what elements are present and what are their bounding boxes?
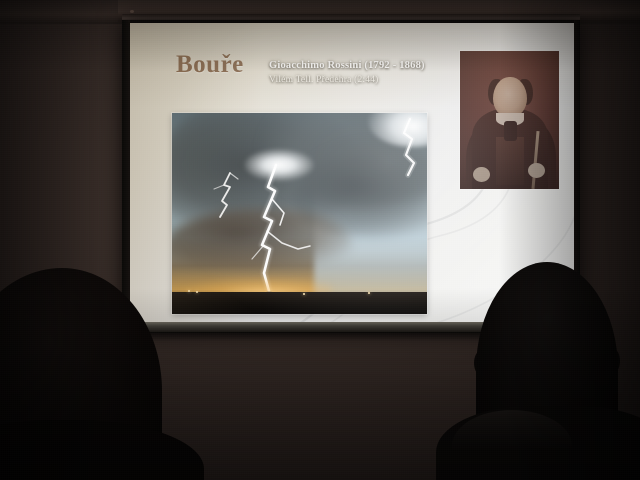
distant-light	[188, 290, 190, 292]
presentation-room-scene: Bouře Gioacchimo Rossini (1792 - 1868) V…	[0, 0, 640, 480]
portrait-hand-right	[528, 163, 545, 178]
slide-subtitle-piece: Vilém Tell. Předehra (2:44)	[269, 73, 425, 87]
portrait-hand-left	[473, 167, 490, 182]
ceiling-fixture-dot	[130, 10, 134, 13]
distant-light	[196, 291, 198, 293]
storm-lightning-photograph	[172, 113, 427, 314]
slide-subtitle-composer: Gioacchimo Rossini (1792 - 1868)	[269, 59, 425, 73]
distant-light	[368, 292, 370, 294]
slide-subtitle-block: Gioacchimo Rossini (1792 - 1868) Vilém T…	[269, 59, 425, 87]
portrait-vest	[496, 137, 524, 185]
rossini-portrait-photograph	[460, 51, 559, 189]
slide-title: Bouře	[176, 51, 244, 79]
portrait-cravat	[504, 121, 517, 141]
dark-foreground-ground	[172, 292, 427, 314]
distant-light	[303, 293, 305, 295]
screen-edge-left	[122, 20, 130, 332]
portrait-face	[493, 77, 527, 117]
